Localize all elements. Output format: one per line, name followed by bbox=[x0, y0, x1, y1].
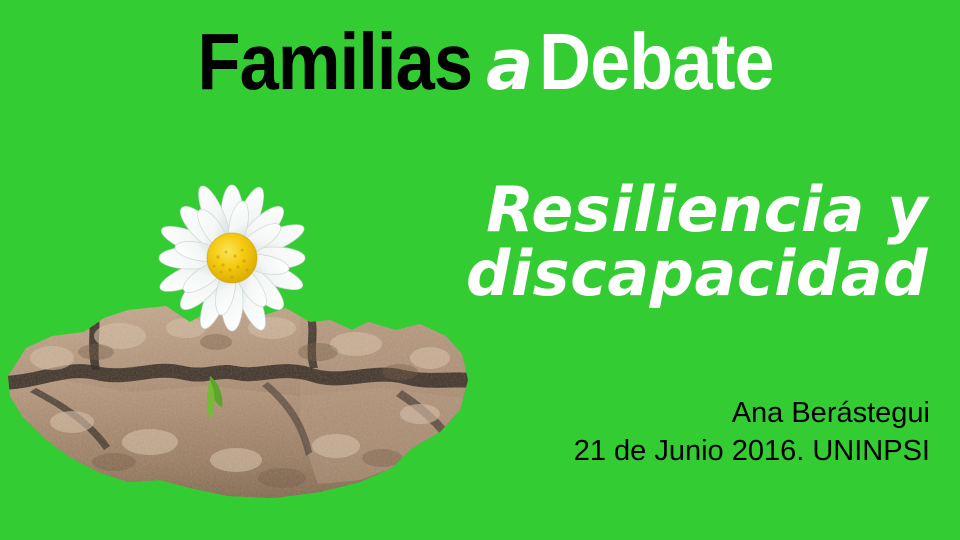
title-word-familias: Familias bbox=[197, 22, 472, 102]
cracked-earth bbox=[0, 290, 480, 510]
daisy-cracked-earth-illustration bbox=[0, 180, 480, 510]
title-word-debate: Debate bbox=[539, 22, 774, 102]
presentation-slide: FamiliasaDebate Resiliencia y discapacid… bbox=[0, 0, 960, 540]
daisy-cracked-earth-svg bbox=[0, 180, 480, 510]
slide-title: FamiliasaDebate bbox=[0, 22, 960, 102]
title-word-a: a bbox=[486, 30, 533, 100]
